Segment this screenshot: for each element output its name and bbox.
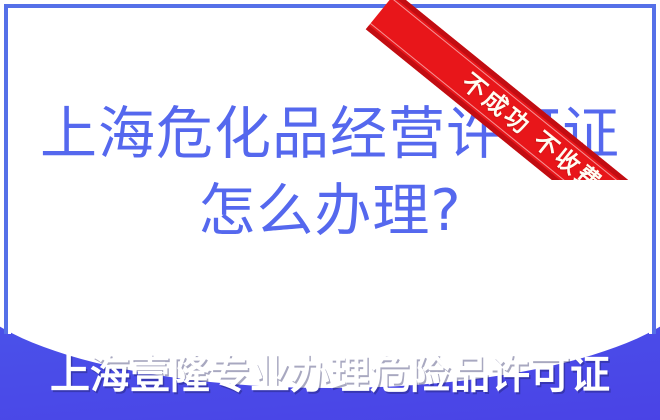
page-title: 上海危化品经营许可证 怎么办理? bbox=[0, 96, 660, 250]
page-title-line-2: 怎么办理? bbox=[0, 172, 660, 250]
tagline-banner-text: 上海壹隆专业办理危险品许可证 bbox=[0, 349, 660, 401]
poster-canvas: 上海危化品经营许可证 怎么办理? 上海壹隆专业办理危险品许可证 不成功 不收费 bbox=[0, 0, 660, 420]
page-title-line-1: 上海危化品经营许可证 bbox=[0, 96, 660, 172]
